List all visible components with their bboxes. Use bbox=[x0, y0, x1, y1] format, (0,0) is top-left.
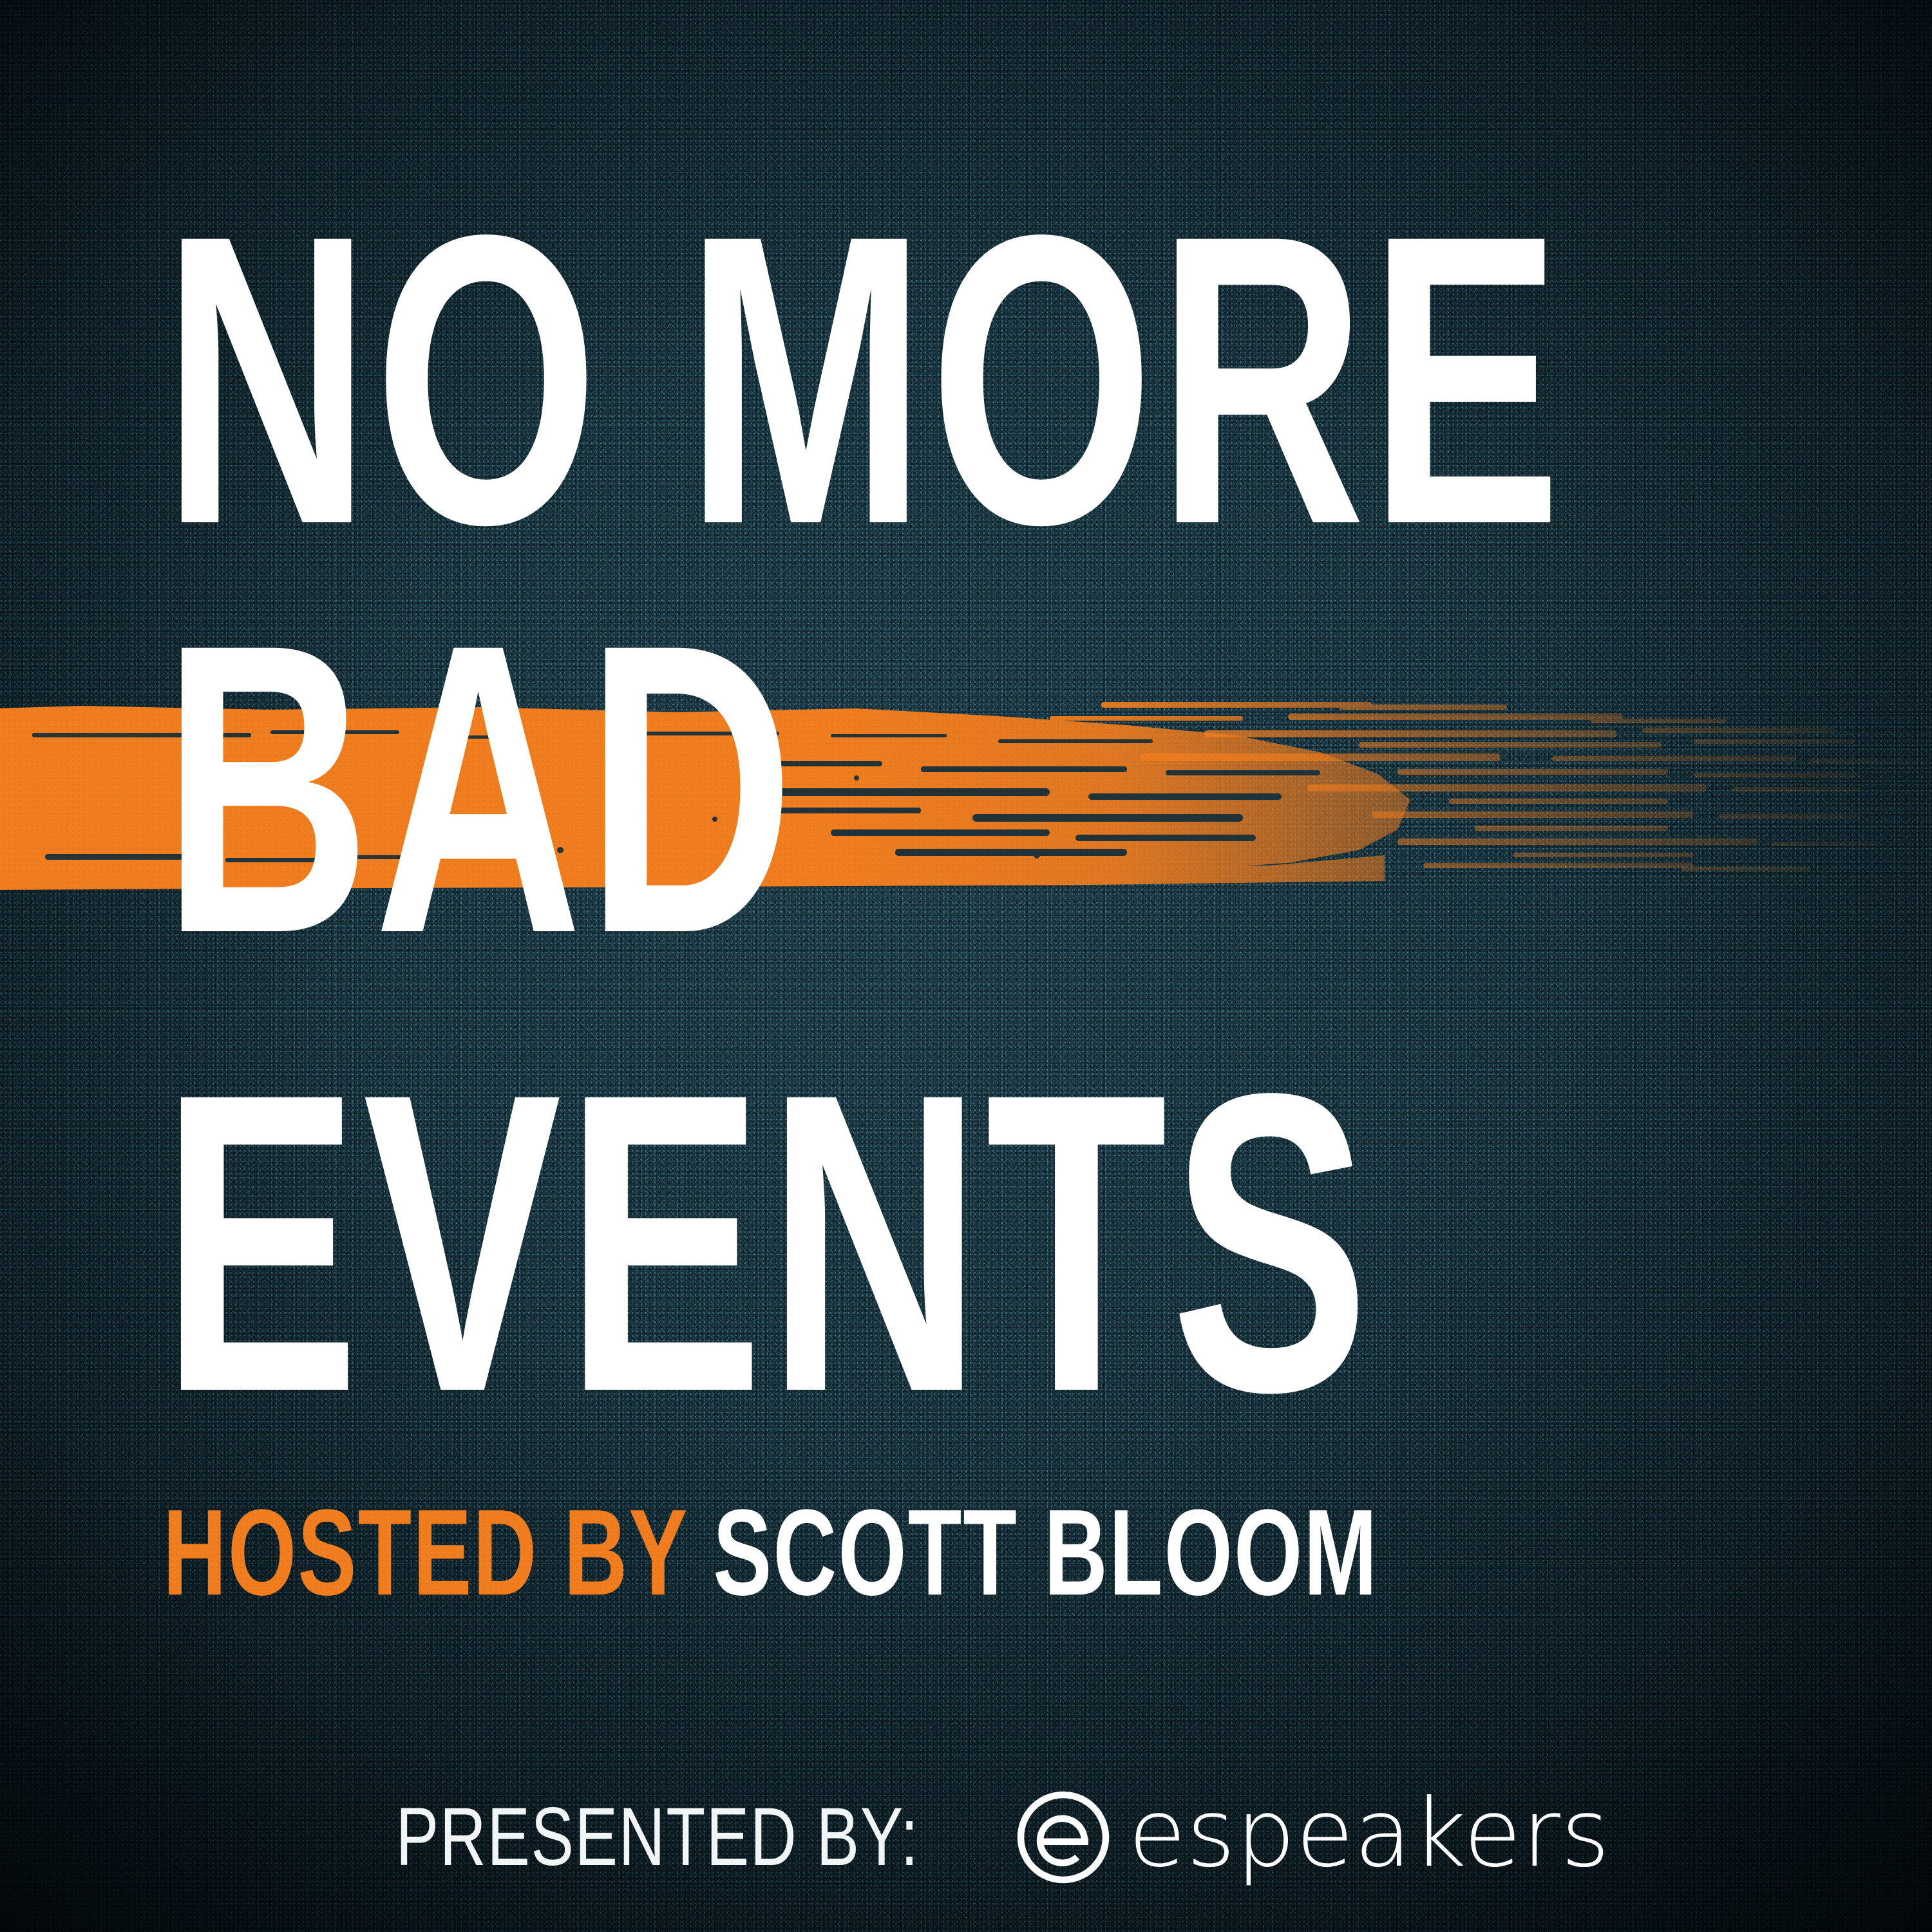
host-credit: HOSTED BY SCOTT BLOOM bbox=[163, 1492, 1378, 1614]
title-line-3: EVENTS bbox=[161, 1030, 1373, 1455]
title-line-1: NO MORE bbox=[162, 174, 1565, 586]
presented-by-label: PRESENTED BY: bbox=[395, 1796, 919, 1879]
host-name: SCOTT BLOOM bbox=[713, 1484, 1378, 1621]
espeakers-wordmark: espeakers bbox=[1128, 1786, 1610, 1880]
title-line-2: BAD bbox=[162, 583, 798, 995]
espeakers-logo: espeakers bbox=[1015, 1789, 1610, 1886]
presented-by-row: PRESENTED BY: espeakers bbox=[0, 1789, 1932, 1886]
podcast-cover-art: NO MORE BAD EVENTS HOSTED BY SCOTT BLOOM… bbox=[0, 0, 1932, 1932]
circle-e-icon bbox=[1015, 1789, 1112, 1886]
hosted-by-label: HOSTED BY bbox=[163, 1484, 687, 1621]
